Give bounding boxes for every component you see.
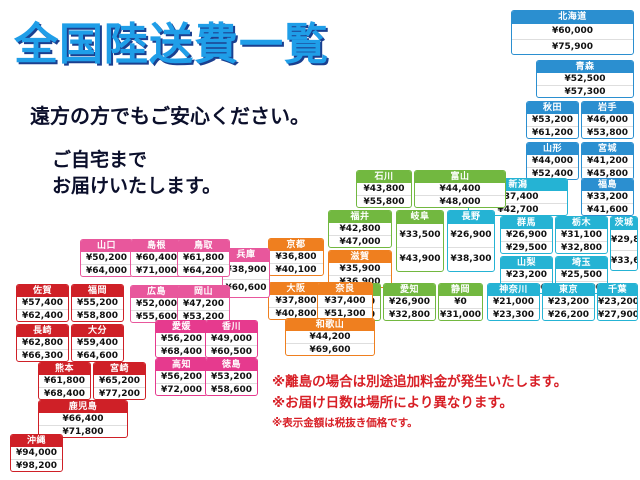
price-primary-hiroshima: ¥52,000 bbox=[131, 298, 182, 310]
prefecture-card-wakayama: 和歌山¥44,200¥69,600 bbox=[285, 318, 375, 356]
prefecture-card-saga: 佐賀¥57,400¥62,400 bbox=[16, 284, 69, 322]
prefecture-card-chiba: 千葉¥23,200¥27,900 bbox=[597, 283, 638, 321]
prefecture-card-shizuoka: 静岡¥0¥31,000 bbox=[438, 283, 483, 321]
price-primary-shizuoka: ¥0 bbox=[439, 296, 482, 308]
prefecture-card-gifu: 岐阜¥33,500¥43,900 bbox=[396, 210, 444, 272]
prefecture-card-iwate: 岩手¥46,000¥53,800 bbox=[581, 101, 634, 139]
prefecture-name-kanagawa: 神奈川 bbox=[488, 284, 539, 296]
prefecture-name-kumamoto: 熊本 bbox=[39, 363, 90, 375]
subtitle-line-1: 遠方の方でもご安心ください。 bbox=[30, 100, 310, 129]
prefecture-card-shimane: 島根¥60,400¥71,000 bbox=[130, 239, 183, 277]
price-primary-tokushima: ¥53,200 bbox=[206, 371, 257, 383]
price-secondary-iwate: ¥53,800 bbox=[582, 126, 633, 138]
price-primary-nagano: ¥26,900 bbox=[448, 224, 494, 247]
price-secondary-nagasaki: ¥66,300 bbox=[17, 349, 68, 361]
price-primary-ibaraki: ¥29,800 bbox=[611, 230, 637, 250]
price-secondary-tochigi: ¥32,800 bbox=[556, 241, 607, 253]
prefecture-name-okayama: 岡山 bbox=[178, 286, 229, 298]
prefecture-name-yamaguchi: 山口 bbox=[81, 240, 132, 252]
prefecture-card-okinawa: 沖縄¥94,000¥98,200 bbox=[10, 434, 63, 472]
price-primary-fukushima: ¥33,200 bbox=[582, 191, 633, 203]
prefecture-card-kochi: 高知¥56,200¥72,000 bbox=[155, 358, 208, 396]
price-primary-aichi: ¥26,900 bbox=[384, 296, 435, 308]
price-secondary-yamaguchi: ¥64,000 bbox=[81, 264, 132, 276]
price-secondary-aichi: ¥32,800 bbox=[384, 308, 435, 320]
price-primary-ehime: ¥56,200 bbox=[156, 333, 207, 345]
price-primary-miyazaki: ¥65,200 bbox=[94, 375, 145, 387]
prefecture-card-ibaraki: 茨城¥29,800¥33,600 bbox=[610, 216, 638, 271]
prefecture-name-shizuoka: 静岡 bbox=[439, 284, 482, 296]
price-primary-shimane: ¥60,400 bbox=[131, 252, 182, 264]
price-primary-kagoshima: ¥66,400 bbox=[39, 413, 127, 425]
prefecture-card-kagawa: 香川¥49,000¥60,500 bbox=[205, 320, 258, 358]
prefecture-card-kumamoto: 熊本¥61,800¥68,400 bbox=[38, 362, 91, 400]
price-primary-kumamoto: ¥61,800 bbox=[39, 375, 90, 387]
subtitle-line-2a: ご自宅まで bbox=[52, 148, 221, 174]
prefecture-name-ehime: 愛媛 bbox=[156, 321, 207, 333]
prefecture-name-chiba: 千葉 bbox=[598, 284, 637, 296]
prefecture-name-nagasaki: 長崎 bbox=[17, 325, 68, 337]
price-primary-yamaguchi: ¥50,200 bbox=[81, 252, 132, 264]
price-primary-nagasaki: ¥62,800 bbox=[17, 337, 68, 349]
prefecture-card-nara: 奈良¥37,400¥51,300 bbox=[317, 282, 373, 320]
prefecture-card-kyoto: 京都¥36,800¥40,100 bbox=[268, 238, 324, 276]
prefecture-name-saitama: 埼玉 bbox=[556, 257, 607, 269]
prefecture-name-shimane: 島根 bbox=[131, 240, 182, 252]
prefecture-name-miyazaki: 宮崎 bbox=[94, 363, 145, 375]
subtitle-line-2: ご自宅まで お届けいたします。 bbox=[52, 148, 221, 199]
prefecture-card-oita: 大分¥59,400¥64,600 bbox=[71, 324, 124, 362]
price-primary-kanagawa: ¥21,000 bbox=[488, 296, 539, 308]
price-secondary-shizuoka: ¥31,000 bbox=[439, 308, 482, 320]
footnote-delivery-days: ※お届け日数は場所により異なります。 bbox=[272, 393, 638, 414]
price-secondary-kochi: ¥72,000 bbox=[156, 383, 207, 395]
price-primary-iwate: ¥46,000 bbox=[582, 114, 633, 126]
price-primary-shiga: ¥35,900 bbox=[329, 263, 391, 275]
price-primary-miyagi: ¥41,200 bbox=[582, 155, 633, 167]
prefecture-card-yamaguchi: 山口¥50,200¥64,000 bbox=[80, 239, 133, 277]
prefecture-card-aichi: 愛知¥26,900¥32,800 bbox=[383, 283, 436, 321]
prefecture-card-kagoshima: 鹿児島¥66,400¥71,800 bbox=[38, 400, 128, 438]
price-primary-kyoto: ¥36,800 bbox=[269, 251, 323, 263]
price-primary-saitama: ¥25,500 bbox=[556, 269, 607, 281]
prefecture-card-aomori: 青森¥52,500¥57,300 bbox=[536, 60, 634, 98]
prefecture-name-tokushima: 徳島 bbox=[206, 359, 257, 371]
prefecture-name-iwate: 岩手 bbox=[582, 102, 633, 114]
price-primary-yamanashi: ¥23,200 bbox=[501, 269, 552, 281]
prefecture-name-shiga: 滋賀 bbox=[329, 251, 391, 263]
prefecture-name-nara: 奈良 bbox=[318, 283, 372, 295]
prefecture-name-gunma: 群馬 bbox=[501, 217, 552, 229]
prefecture-name-osaka: 大阪 bbox=[269, 283, 323, 295]
prefecture-name-hiroshima: 広島 bbox=[131, 286, 182, 298]
prefecture-name-kyoto: 京都 bbox=[269, 239, 323, 251]
prefecture-name-hokkaido: 北海道 bbox=[512, 11, 633, 24]
prefecture-name-tochigi: 栃木 bbox=[556, 217, 607, 229]
prefecture-card-ehime: 愛媛¥56,200¥68,400 bbox=[155, 320, 208, 358]
price-secondary-tokyo: ¥26,200 bbox=[543, 308, 594, 320]
price-primary-okinawa: ¥94,000 bbox=[11, 447, 62, 459]
price-primary-tottori: ¥61,800 bbox=[178, 252, 229, 264]
prefecture-card-osaka: 大阪¥37,800¥40,800 bbox=[268, 282, 324, 320]
price-secondary-gifu: ¥43,900 bbox=[397, 247, 443, 270]
price-primary-saga: ¥57,400 bbox=[17, 297, 68, 309]
prefecture-name-miyagi: 宮城 bbox=[582, 143, 633, 155]
price-secondary-nagano: ¥38,300 bbox=[448, 247, 494, 270]
price-primary-okayama: ¥47,200 bbox=[178, 298, 229, 310]
price-secondary-hokkaido: ¥75,900 bbox=[512, 39, 633, 54]
price-secondary-ishikawa: ¥55,800 bbox=[357, 195, 411, 207]
price-secondary-kanagawa: ¥23,300 bbox=[488, 308, 539, 320]
prefecture-name-yamagata: 山形 bbox=[527, 143, 578, 155]
price-primary-ishikawa: ¥43,800 bbox=[357, 183, 411, 195]
price-primary-gifu: ¥33,500 bbox=[397, 224, 443, 247]
price-secondary-fukui: ¥47,000 bbox=[329, 235, 391, 247]
price-secondary-chiba: ¥27,900 bbox=[598, 308, 637, 320]
prefecture-name-ibaraki: 茨城 bbox=[611, 217, 637, 230]
price-primary-akita: ¥53,200 bbox=[527, 114, 578, 126]
price-primary-yamagata: ¥44,000 bbox=[527, 155, 578, 167]
prefecture-name-fukui: 福井 bbox=[329, 211, 391, 223]
transport-fee-poster: 全国陸送費一覧 遠方の方でもご安心ください。 ご自宅まで お届けいたします。 北… bbox=[0, 0, 640, 480]
price-primary-chiba: ¥23,200 bbox=[598, 296, 637, 308]
price-secondary-aomori: ¥57,300 bbox=[537, 85, 633, 97]
price-primary-fukuoka: ¥55,200 bbox=[72, 297, 123, 309]
prefecture-name-fukuoka: 福岡 bbox=[72, 285, 123, 297]
price-secondary-miyazaki: ¥77,200 bbox=[94, 387, 145, 399]
prefecture-name-saga: 佐賀 bbox=[17, 285, 68, 297]
prefecture-name-tottori: 鳥取 bbox=[178, 240, 229, 252]
price-secondary-okinawa: ¥98,200 bbox=[11, 459, 62, 471]
price-secondary-tottori: ¥64,200 bbox=[178, 264, 229, 276]
price-secondary-ehime: ¥68,400 bbox=[156, 345, 207, 357]
page-title: 全国陸送費一覧 bbox=[14, 8, 329, 72]
prefecture-card-toyama: 富山¥44,400¥48,000 bbox=[414, 170, 506, 208]
price-secondary-oita: ¥64,600 bbox=[72, 349, 123, 361]
prefecture-card-tottori: 鳥取¥61,800¥64,200 bbox=[177, 239, 230, 277]
prefecture-card-hiroshima: 広島¥52,000¥55,600 bbox=[130, 285, 183, 323]
prefecture-name-fukushima: 福島 bbox=[582, 179, 633, 191]
prefecture-name-kochi: 高知 bbox=[156, 359, 207, 371]
price-primary-aomori: ¥52,500 bbox=[537, 73, 633, 85]
price-secondary-shimane: ¥71,000 bbox=[131, 264, 182, 276]
prefecture-name-wakayama: 和歌山 bbox=[286, 319, 374, 331]
prefecture-card-miyagi: 宮城¥41,200¥45,800 bbox=[581, 142, 634, 180]
price-primary-gunma: ¥26,900 bbox=[501, 229, 552, 241]
prefecture-card-akita: 秋田¥53,200¥61,200 bbox=[526, 101, 579, 139]
price-primary-osaka: ¥37,800 bbox=[269, 295, 323, 307]
prefecture-name-oita: 大分 bbox=[72, 325, 123, 337]
prefecture-card-kanagawa: 神奈川¥21,000¥23,300 bbox=[487, 283, 540, 321]
price-primary-oita: ¥59,400 bbox=[72, 337, 123, 349]
prefecture-name-nagano: 長野 bbox=[448, 211, 494, 224]
price-primary-tochigi: ¥31,100 bbox=[556, 229, 607, 241]
price-secondary-toyama: ¥48,000 bbox=[415, 195, 505, 207]
prefecture-card-yamagata: 山形¥44,000¥52,400 bbox=[526, 142, 579, 180]
price-primary-nara: ¥37,400 bbox=[318, 295, 372, 307]
prefecture-card-tokyo: 東京¥23,200¥26,200 bbox=[542, 283, 595, 321]
prefecture-card-tokushima: 徳島¥53,200¥58,600 bbox=[205, 358, 258, 396]
price-primary-kochi: ¥56,200 bbox=[156, 371, 207, 383]
prefecture-name-tokyo: 東京 bbox=[543, 284, 594, 296]
footnote-remote-island: ※離島の場合は別途追加料金が発生いたします。 bbox=[272, 372, 638, 393]
price-secondary-akita: ¥61,200 bbox=[527, 126, 578, 138]
price-secondary-fukuoka: ¥58,800 bbox=[72, 309, 123, 321]
prefecture-card-fukushima: 福島¥33,200¥41,600 bbox=[581, 178, 634, 216]
price-secondary-ibaraki: ¥33,600 bbox=[611, 250, 637, 270]
prefecture-card-hokkaido: 北海道¥60,000¥75,900 bbox=[511, 10, 634, 55]
price-primary-wakayama: ¥44,200 bbox=[286, 331, 374, 343]
price-primary-fukui: ¥42,800 bbox=[329, 223, 391, 235]
price-secondary-wakayama: ¥69,600 bbox=[286, 343, 374, 355]
footnote-tax-excluded: ※表示金額は税抜き価格です。 bbox=[272, 414, 638, 432]
prefecture-name-ishikawa: 石川 bbox=[357, 171, 411, 183]
price-primary-kagawa: ¥49,000 bbox=[206, 333, 257, 345]
price-secondary-fukushima: ¥41,600 bbox=[582, 203, 633, 215]
price-primary-hokkaido: ¥60,000 bbox=[512, 24, 633, 39]
price-secondary-kyoto: ¥40,100 bbox=[269, 263, 323, 275]
prefecture-card-gunma: 群馬¥26,900¥29,500 bbox=[500, 216, 553, 254]
price-secondary-tokushima: ¥58,600 bbox=[206, 383, 257, 395]
prefecture-card-miyazaki: 宮崎¥65,200¥77,200 bbox=[93, 362, 146, 400]
prefecture-card-fukuoka: 福岡¥55,200¥58,800 bbox=[71, 284, 124, 322]
prefecture-card-tochigi: 栃木¥31,100¥32,800 bbox=[555, 216, 608, 254]
prefecture-name-okinawa: 沖縄 bbox=[11, 435, 62, 447]
prefecture-name-yamanashi: 山梨 bbox=[501, 257, 552, 269]
prefecture-name-aomori: 青森 bbox=[537, 61, 633, 73]
prefecture-name-toyama: 富山 bbox=[415, 171, 505, 183]
prefecture-name-aichi: 愛知 bbox=[384, 284, 435, 296]
prefecture-card-fukui: 福井¥42,800¥47,000 bbox=[328, 210, 392, 248]
subtitle-line-2b: お届けいたします。 bbox=[52, 174, 221, 200]
price-secondary-gunma: ¥29,500 bbox=[501, 241, 552, 253]
prefecture-name-kagoshima: 鹿児島 bbox=[39, 401, 127, 413]
prefecture-name-kagawa: 香川 bbox=[206, 321, 257, 333]
prefecture-name-akita: 秋田 bbox=[527, 102, 578, 114]
prefecture-name-gifu: 岐阜 bbox=[397, 211, 443, 224]
footnotes: ※離島の場合は別途追加料金が発生いたします。 ※お届け日数は場所により異なります… bbox=[272, 372, 638, 432]
prefecture-card-okayama: 岡山¥47,200¥53,200 bbox=[177, 285, 230, 323]
price-secondary-saga: ¥62,400 bbox=[17, 309, 68, 321]
price-secondary-kumamoto: ¥68,400 bbox=[39, 387, 90, 399]
prefecture-card-nagano: 長野¥26,900¥38,300 bbox=[447, 210, 495, 272]
price-primary-toyama: ¥44,400 bbox=[415, 183, 505, 195]
prefecture-card-ishikawa: 石川¥43,800¥55,800 bbox=[356, 170, 412, 208]
price-secondary-kagawa: ¥60,500 bbox=[206, 345, 257, 357]
prefecture-card-nagasaki: 長崎¥62,800¥66,300 bbox=[16, 324, 69, 362]
price-primary-tokyo: ¥23,200 bbox=[543, 296, 594, 308]
